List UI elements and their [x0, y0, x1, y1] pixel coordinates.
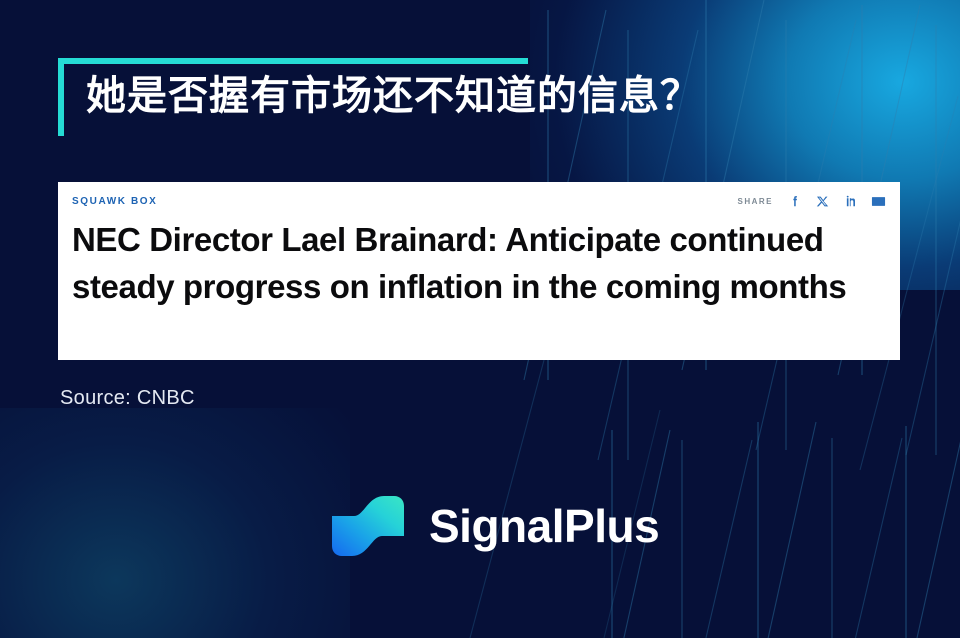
- share-group: SHARE: [737, 194, 886, 209]
- show-name-kicker: SQUAWK BOX: [72, 196, 157, 207]
- x-twitter-icon[interactable]: [815, 194, 830, 209]
- email-icon[interactable]: [871, 194, 886, 209]
- news-card: SQUAWK BOX SHARE: [58, 182, 900, 360]
- promo-card: 她是否握有市场还不知道的信息？ SQUAWK BOX SHARE: [0, 0, 960, 638]
- linkedin-icon[interactable]: [843, 194, 858, 209]
- headline-block: 她是否握有市场还不知道的信息？: [58, 58, 818, 150]
- share-label: SHARE: [737, 197, 773, 206]
- news-card-topbar: SQUAWK BOX SHARE: [72, 192, 886, 210]
- brand-logo: SignalPlus: [320, 490, 659, 562]
- brand-name: SignalPlus: [429, 499, 659, 553]
- bracket-top-rule: [58, 58, 528, 64]
- source-attribution: Source: CNBC: [60, 387, 195, 410]
- page-title: 她是否握有市场还不知道的信息？: [86, 68, 826, 124]
- bracket-left-rule: [58, 58, 64, 136]
- signalplus-wave-logo: [320, 492, 412, 560]
- facebook-icon[interactable]: [787, 194, 802, 209]
- news-headline: NEC Director Lael Brainard: Anticipate c…: [72, 216, 886, 310]
